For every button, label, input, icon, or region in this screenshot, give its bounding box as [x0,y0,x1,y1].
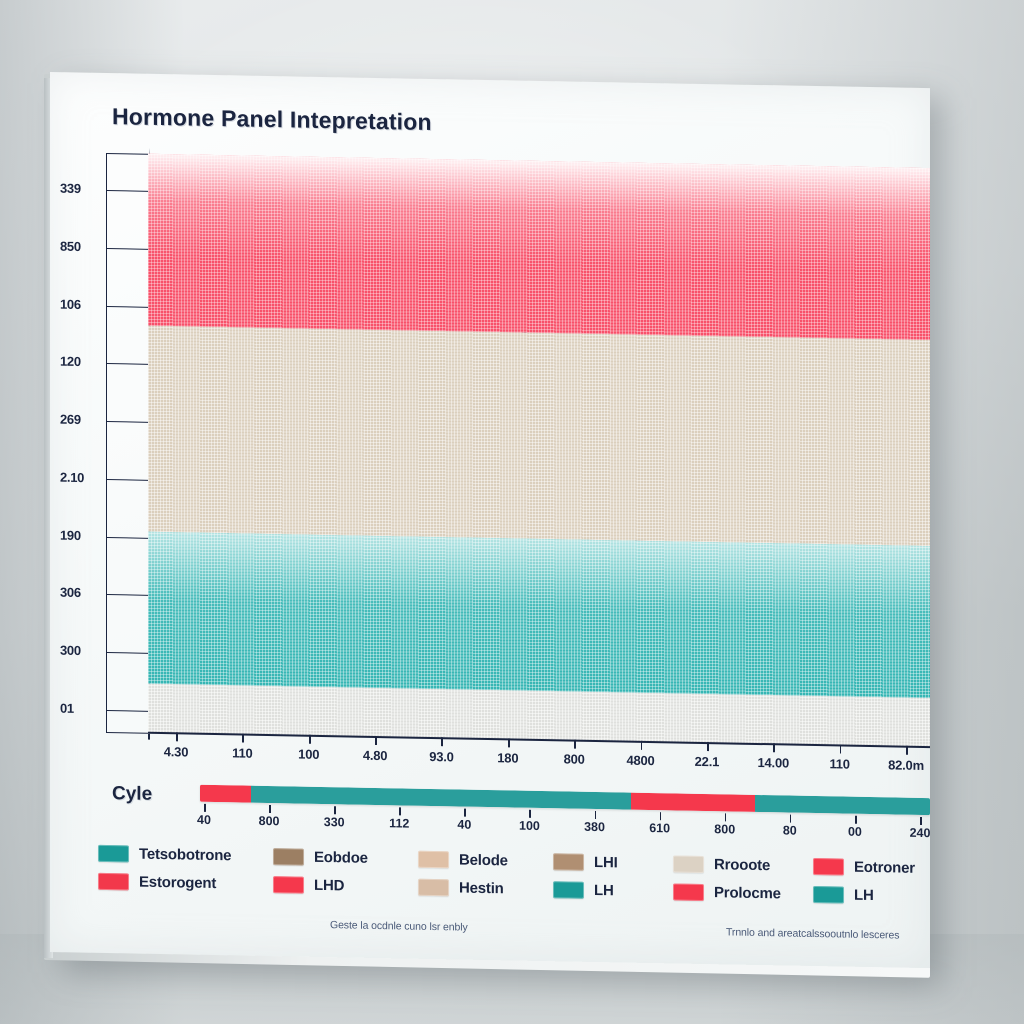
legend-swatch-icon [418,851,449,869]
y-tick-label: 850 [60,238,87,253]
y-axis-rung [107,421,149,423]
cycle-colorbar-segment [251,786,631,810]
legend-label: Belode [459,851,508,869]
y-tick-label: 306 [60,585,87,600]
y-tick-label: 120 [60,354,87,369]
y-tick-label: 01 [60,701,80,716]
cycle-colorbar-segment [631,793,755,812]
y-axis-rung [107,248,149,250]
legend-swatch-icon [813,858,844,876]
cycle-tick [660,812,662,820]
y-tick-label: 190 [60,527,87,542]
cycle-tick-label: 00 [848,825,862,839]
legend-swatch-icon [673,855,704,873]
x-axis-tick [309,735,311,744]
plot-area [148,154,930,749]
x-tick-label: 800 [564,751,585,766]
legend-label: LH [594,882,614,899]
cycle-tick-label: 800 [259,814,280,828]
cycle-tick [269,805,271,813]
legend-swatch-icon [673,883,704,901]
x-tick-label: 4.80 [363,748,388,763]
x-tick-label: 93.0 [429,749,454,764]
cycle-tick [920,817,922,825]
legend-item[interactable]: Belode [418,851,508,870]
x-axis-tick [707,742,709,751]
legend-label: LHI [594,854,618,871]
legend-swatch-icon [553,881,584,899]
legend-item[interactable]: Rrooote [673,855,770,874]
cycle-tick [790,815,792,823]
y-tick-label: 2.10 [60,470,90,486]
y-tick-label: 300 [60,643,87,658]
y-axis-ladder [106,153,148,734]
cycle-colorbar[interactable] [200,785,930,815]
x-tick-label: 14.00 [757,755,789,771]
legend-item[interactable]: Prolocme [673,883,781,902]
y-tick-label: 106 [60,296,87,311]
x-tick-label: 4.30 [164,744,189,759]
cycle-tick-label: 610 [649,821,670,835]
x-tick-label: 180 [497,750,518,765]
legend-label: LHD [314,877,344,895]
legend-swatch-icon [813,886,844,904]
cycle-tick [855,816,857,824]
legend-item[interactable]: LHD [273,876,344,894]
y-axis-rung [107,479,149,481]
legend-swatch-icon [273,876,304,894]
legend-item[interactable]: Eotroner [813,858,915,877]
legend-swatch-icon [553,853,584,871]
y-axis-rung [107,594,149,596]
y-axis-rung [107,537,149,539]
x-tick-label: 82.0m [888,757,924,773]
x-axis-tick [508,738,510,747]
cycle-tick-label: 330 [324,815,345,829]
legend-item[interactable]: Hestin [418,879,504,898]
y-tick-label: 339 [60,181,87,196]
cycle-tick [334,806,336,814]
band-high-red [148,154,930,341]
x-axis-tick [641,741,643,750]
legend-item[interactable]: Eobdoe [273,848,368,867]
cycle-tick-label: 40 [197,813,211,827]
x-axis-tick [242,734,244,743]
cycle-colorbar-segment [200,785,251,803]
x-axis-tick [574,740,576,749]
cycle-tick-label: 112 [389,816,409,830]
legend-label: Estorogent [139,874,216,892]
band-low-teal [148,532,930,699]
cycle-tick [529,810,531,818]
cycle-tick [464,809,466,817]
legend-captions: Geste la ocdnle cuno lsr enbly Trnnlo an… [98,915,930,930]
legend-item[interactable]: LH [813,886,874,904]
x-axis-tick [441,737,443,746]
cycle-tick [204,804,206,812]
legend-label: Hestin [459,879,504,897]
chart-canvas-panel: Hormone Panel Intepretation 4.301101004.… [50,72,930,968]
x-axis-tick [375,736,377,745]
x-axis-tick [773,743,775,752]
scene-root: Hormone Panel Intepretation 4.301101004.… [0,0,1024,1024]
legend-label: Eobdoe [314,849,368,867]
x-tick-label: 100 [298,747,319,762]
cycle-tick-label: 40 [457,817,471,831]
cycle-tick-label: 80 [783,823,797,837]
cycle-tick [595,811,597,819]
x-tick-label: 4800 [626,753,654,769]
legend-item[interactable]: Estorogent [98,873,216,892]
y-ticks: 3398501061202692.1019030630001 [50,72,930,88]
chart-title: Hormone Panel Intepretation [112,103,432,136]
cycle-tick-label: 800 [714,822,735,836]
y-axis-rung [107,363,149,365]
legend-swatch-icon [418,879,449,897]
y-axis-rung [107,190,149,192]
legend-swatch-icon [273,848,304,866]
legend: TetsobotroneEobdoeBelodeLHIRroooteEotron… [98,845,930,916]
x-axis-tick [840,744,842,753]
x-tick-label: 22.1 [695,754,720,769]
legend-item[interactable]: LH [553,881,614,899]
caption-left: Geste la ocdnle cuno lsr enbly [330,919,468,934]
cycle-label: Cyle [112,783,152,806]
cycle-colorbar-segment [755,795,930,815]
cycle-tick [725,813,727,821]
band-mid-tan [148,326,930,547]
legend-label: Rrooote [714,856,770,874]
x-axis-tick [176,732,178,741]
cycle-colorbar-row: Cyle 40800330112401003806108008000240 [112,779,930,854]
y-tick-label: 269 [60,412,87,427]
cycle-tick-label: 100 [519,819,540,833]
x-ticks: 4.301101004.8093.0180800480022.114.00110… [50,72,930,88]
legend-label: Tetsobotrone [139,846,231,865]
legend-swatch-icon [98,845,129,863]
legend-label: Eotroner [854,859,915,877]
x-axis-tick [906,746,908,755]
x-tick-label: 110 [232,745,252,760]
cycle-tick-label: 240 [910,826,930,840]
legend-label: Prolocme [714,884,781,902]
legend-swatch-icon [98,873,129,891]
legend-label: LH [854,887,874,904]
x-tick-label: 110 [829,756,849,771]
legend-item[interactable]: Tetsobotrone [98,845,231,864]
caption-right: Trnnlo and areatcalssooutnlo lesceres [726,926,899,941]
y-axis-rung [107,306,149,308]
cycle-tick-label: 380 [584,820,605,834]
y-axis-rung [107,710,149,712]
legend-item[interactable]: LHI [553,853,618,871]
y-axis-rung [107,652,149,654]
cycle-tick [399,807,401,815]
